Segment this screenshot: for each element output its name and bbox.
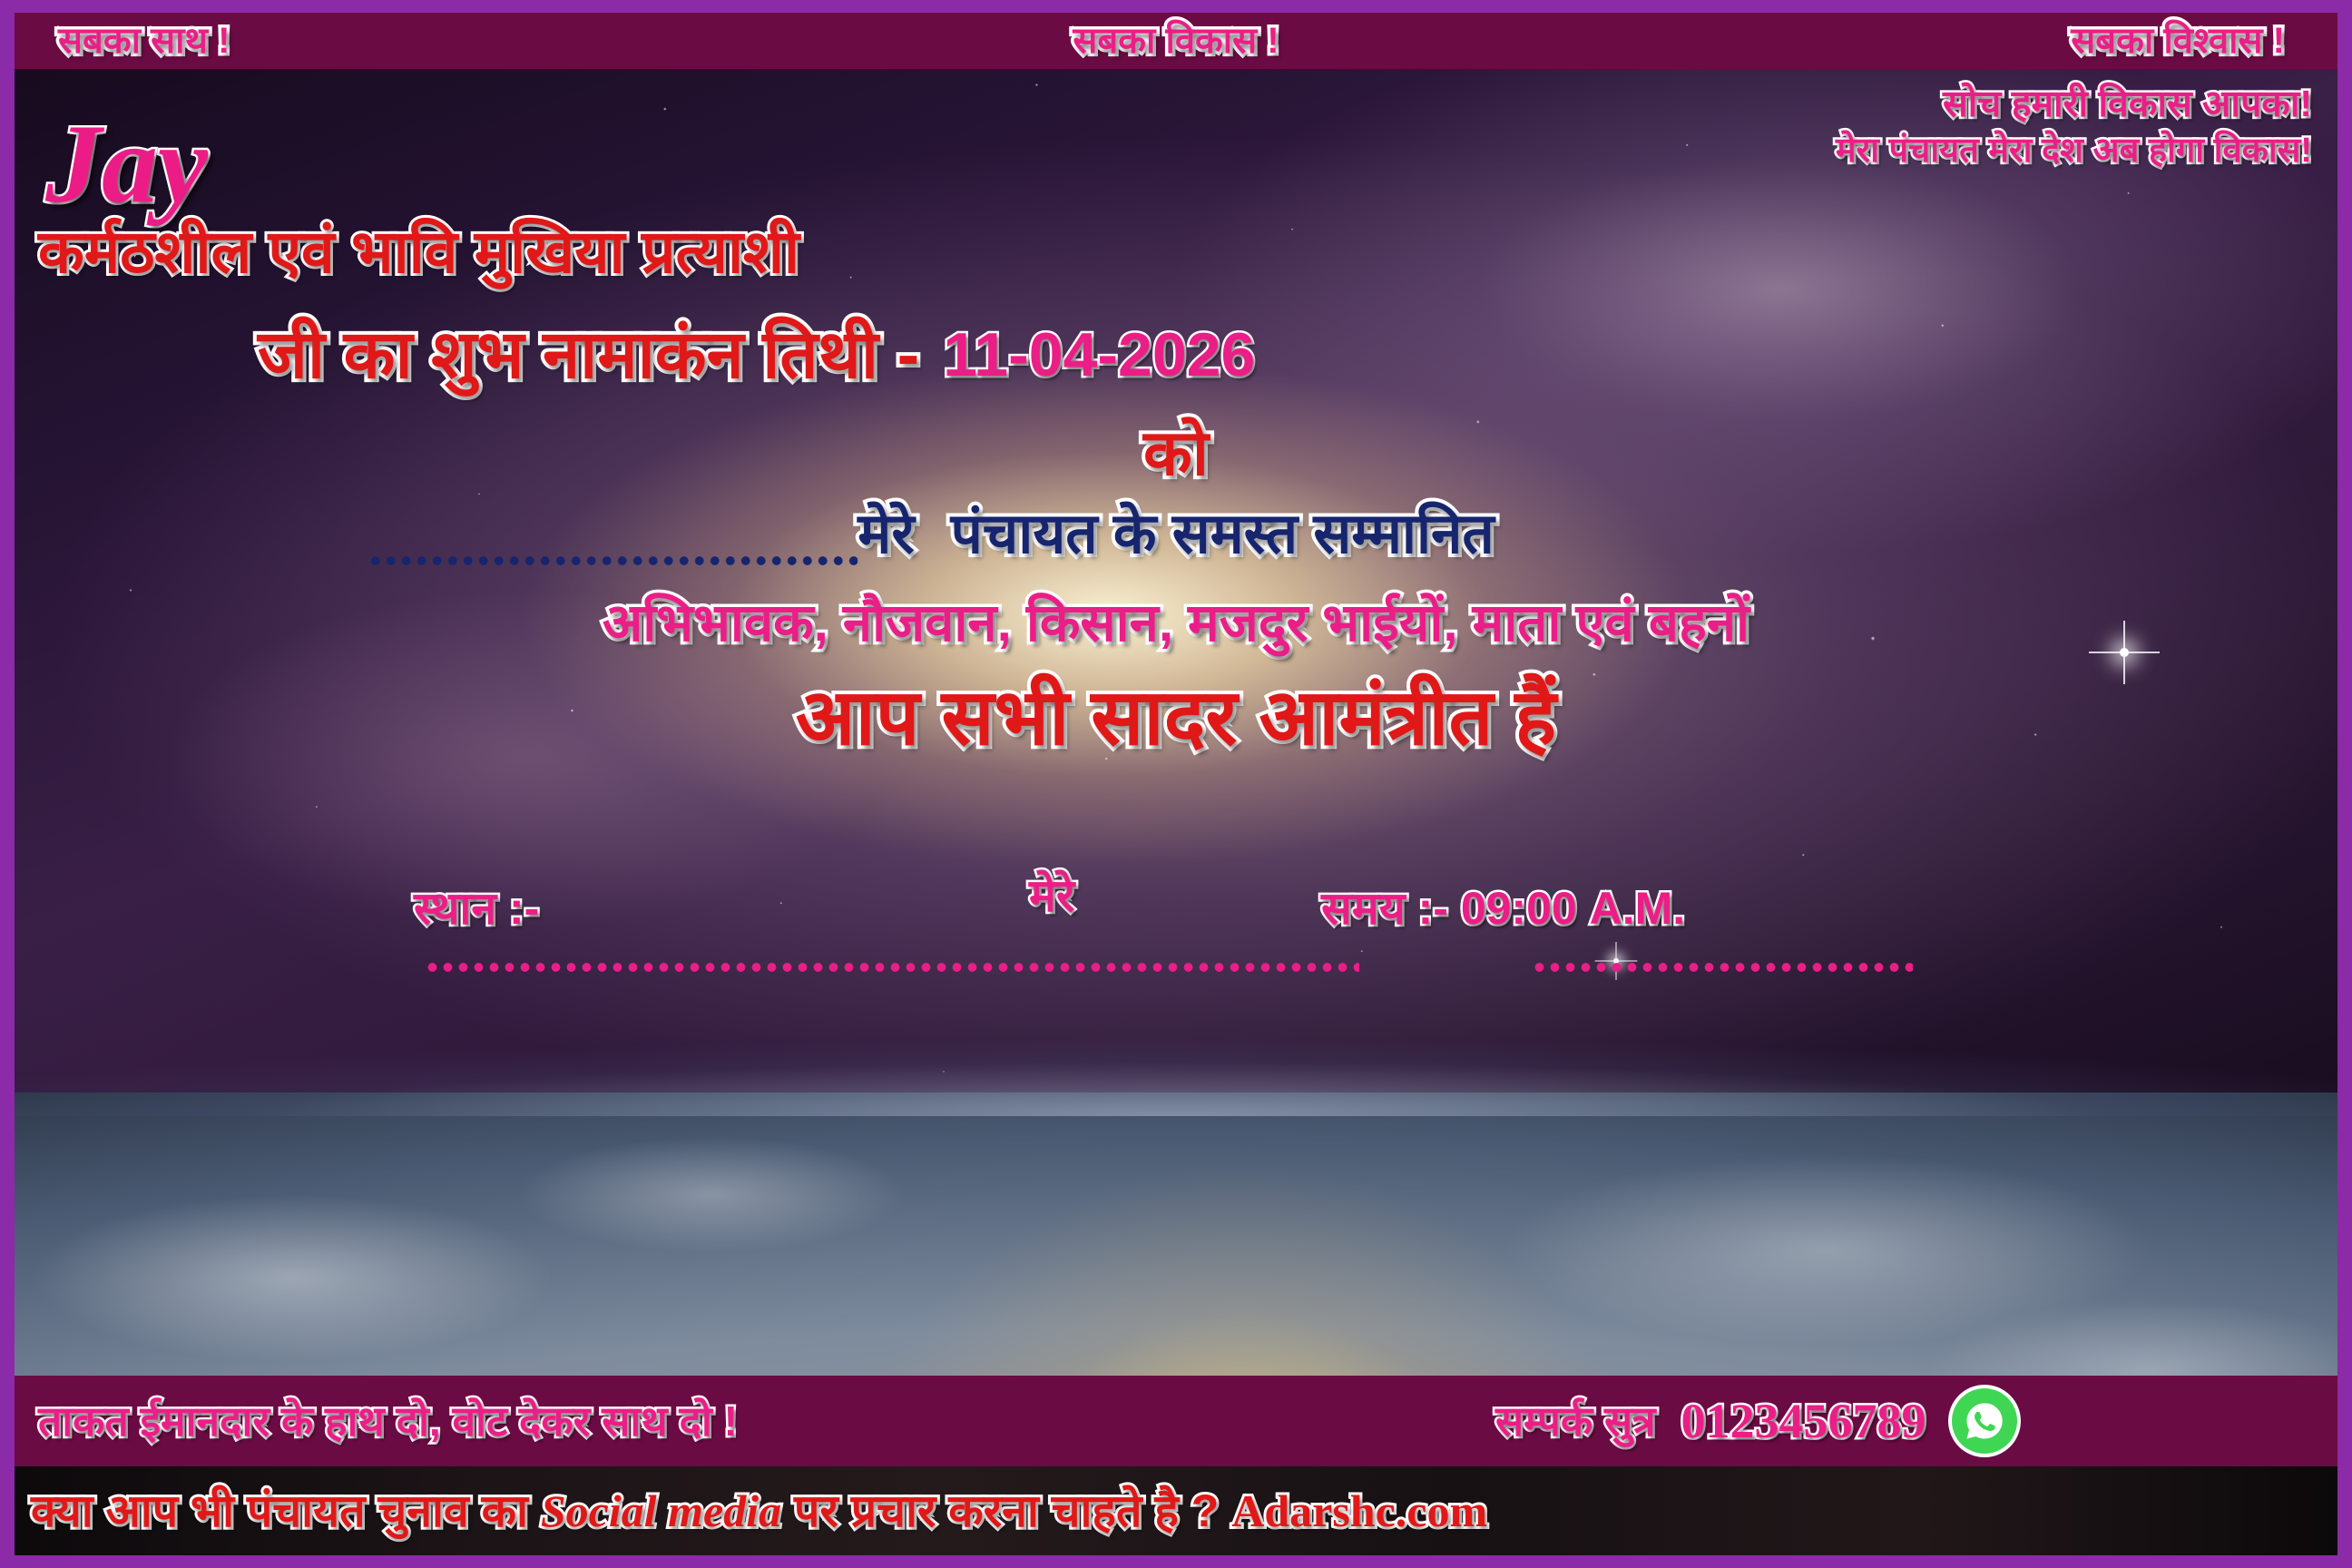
election-invitation-poster: सबका साथ ! सबका विकास ! सबका विश्वास ! स…	[0, 0, 2352, 1568]
time-dotted-line	[1532, 962, 1913, 973]
place-dotted-line	[425, 962, 1359, 973]
footer-text-part2: पर प्रचार करना चाहते है ?	[781, 1485, 1231, 1536]
time-value: 09:00 A.M.	[1461, 883, 1685, 934]
slogan-sabka-vikas: सबका विकास !	[1073, 23, 1279, 59]
contact-label: सम्पर्क सुत्र	[1495, 1400, 1656, 1442]
footer-text-part1: क्या आप भी पंचायत चुनाव का	[31, 1485, 541, 1536]
venue-time-row: स्थान :- मेरे समय :- 09:00 A.M.	[15, 886, 2337, 985]
tagline-line-2: मेरा पंचायत मेरा देश अब होगा विकास!	[1836, 133, 2312, 168]
footer-social-media: Social media	[541, 1485, 781, 1536]
footer-promo-text[interactable]: क्या आप भी पंचायत चुनाव का Social media …	[31, 1488, 1487, 1534]
place-value-mere: मेरे	[1029, 873, 1074, 918]
footer-website: Adarshc.com	[1231, 1485, 1487, 1536]
whatsapp-icon[interactable]	[1952, 1388, 2017, 1454]
word-ko: को	[1143, 421, 1209, 485]
vote-appeal-slogan: ताकत ईमानदार के हाथ दो, वोट देकर साथ दो …	[38, 1400, 738, 1442]
top-slogan-band: सबका साथ ! सबका विकास ! सबका विश्वास !	[15, 13, 2337, 69]
campaign-tagline: सोच हमारी विकास आपका! मेरा पंचायत मेरा द…	[1836, 85, 2312, 168]
nomination-date-value: 11-04-2026	[943, 324, 1255, 386]
panchayat-line-row: मेरे पंचायत के समस्त सम्मानित	[857, 506, 1494, 563]
contact-block[interactable]: सम्पर्क सुत्र 0123456789	[1495, 1388, 2017, 1454]
slogan-sabka-vishwas: सबका विश्वास !	[2071, 23, 2285, 59]
poster-inner: सबका साथ ! सबका विकास ! सबका विश्वास ! स…	[15, 13, 2337, 1555]
place-label: स्थान :-	[414, 886, 539, 931]
bottom-slogan-band: ताकत ईमानदार के हाथ दो, वोट देकर साथ दो …	[15, 1376, 2337, 1466]
panchayat-text: पंचायत के समस्त सम्मानित	[951, 506, 1494, 563]
poster-main-content: सोच हमारी विकास आपका! मेरा पंचायत मेरा द…	[15, 69, 2337, 1376]
invitation-headline: आप सभी सादर आमंत्रीत हैं	[796, 679, 1556, 757]
candidate-name: Jay	[45, 111, 208, 218]
slogan-sabka-saath: सबका साथ !	[58, 23, 230, 59]
time-label-and-value: समय :- 09:00 A.M.	[1321, 886, 1685, 931]
nomination-date-row: जी का शुभ नामाकंन तिथी -11-04-2026	[258, 316, 1255, 393]
tagline-line-1: सोच हमारी विकास आपका!	[1836, 85, 2312, 122]
nomination-label: जी का शुभ नामाकंन तिथी -	[258, 321, 919, 388]
word-mere-panchayat: मेरे	[857, 506, 914, 563]
footer-promo-band: क्या आप भी पंचायत चुनाव का Social media …	[15, 1466, 2337, 1555]
audience-list: अभिभावक, नौजवान, किसान, मजदुर भाईयों, मा…	[603, 597, 1749, 650]
candidate-designation: कर्मठशील एवं भावि मुखिया प्रत्याशी	[38, 221, 799, 281]
contact-number[interactable]: 0123456789	[1681, 1396, 1926, 1445]
